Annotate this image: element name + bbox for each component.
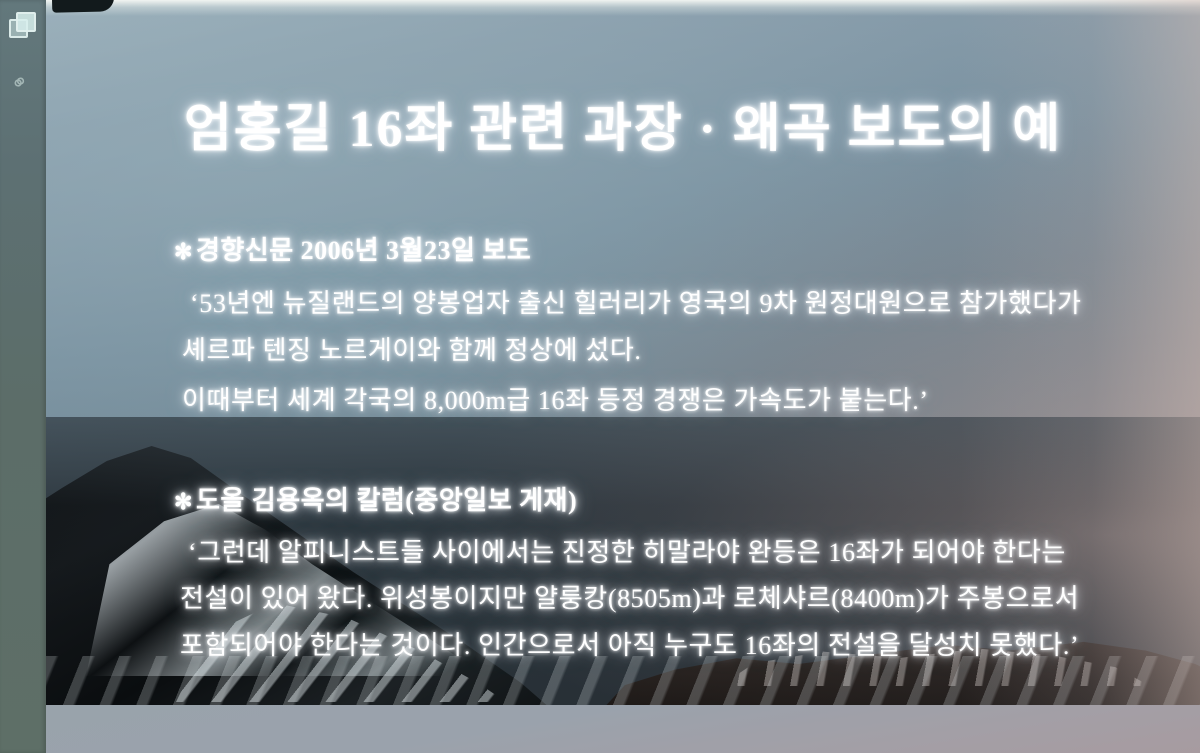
slide-content: 엄홍길 16좌 관련 과장 · 왜곡 보도의 예 ✻경향신문 2006년 3월2… [46, 0, 1200, 712]
wall-band-below-projection [46, 705, 1200, 753]
section-heading-1-label: 경향신문 2006년 3월23일 보도 [196, 236, 531, 265]
copy-icon-front-square [16, 12, 36, 32]
copy-icon[interactable] [9, 12, 37, 40]
quote-1-line-1: ‘53년엔 뉴질랜드의 양봉업자 출신 힐러리가 영국의 9차 원정대원으로 참… [190, 283, 1082, 320]
quote-1-line-2: 셰르파 텐징 노르게이와 함께 정상에 섰다. [182, 330, 641, 367]
quote-2-line-2: 전설이 있어 왔다. 위성봉이지만 얄룽캉(8505m)과 로체샤르(8400m… [180, 578, 1079, 615]
bullet-marker-2: ✻ [174, 489, 193, 514]
link-icon[interactable]: ⚭ [9, 66, 37, 94]
projected-slide: 엄홍길 16좌 관련 과장 · 왜곡 보도의 예 ✻경향신문 2006년 3월2… [46, 0, 1200, 712]
link-icon-glyph: ⚭ [5, 63, 40, 98]
quote-1-line-3: 이때부터 세계 각국의 8,000m급 16좌 등정 경쟁은 가속도가 붙는다.… [182, 380, 929, 417]
slide-title: 엄홍길 16좌 관련 과장 · 왜곡 보도의 예 [46, 86, 1200, 161]
left-sidebar: ⚭ [0, 0, 46, 753]
section-heading-2: ✻도올 김용옥의 칼럼(중앙일보 게재) [174, 480, 577, 517]
quote-2-line-3: 포함되어야 한다는 것이다. 인간으로서 아직 누구도 16좌의 전설을 달성치… [180, 625, 1079, 662]
section-heading-2-label: 도올 김용옥의 칼럼(중앙일보 게재) [196, 486, 577, 515]
section-heading-1: ✻경향신문 2006년 3월23일 보도 [174, 230, 531, 267]
bullet-marker-1: ✻ [174, 239, 193, 264]
screenshot-root: ⚭ 엄홍길 16좌 관련 과장 · 왜곡 보도의 예 ✻경향신문 2006년 3… [0, 0, 1200, 753]
quote-2-line-1: ‘그런데 알피니스트들 사이에서는 진정한 히말라야 완등은 16좌가 되어야 … [188, 532, 1066, 569]
